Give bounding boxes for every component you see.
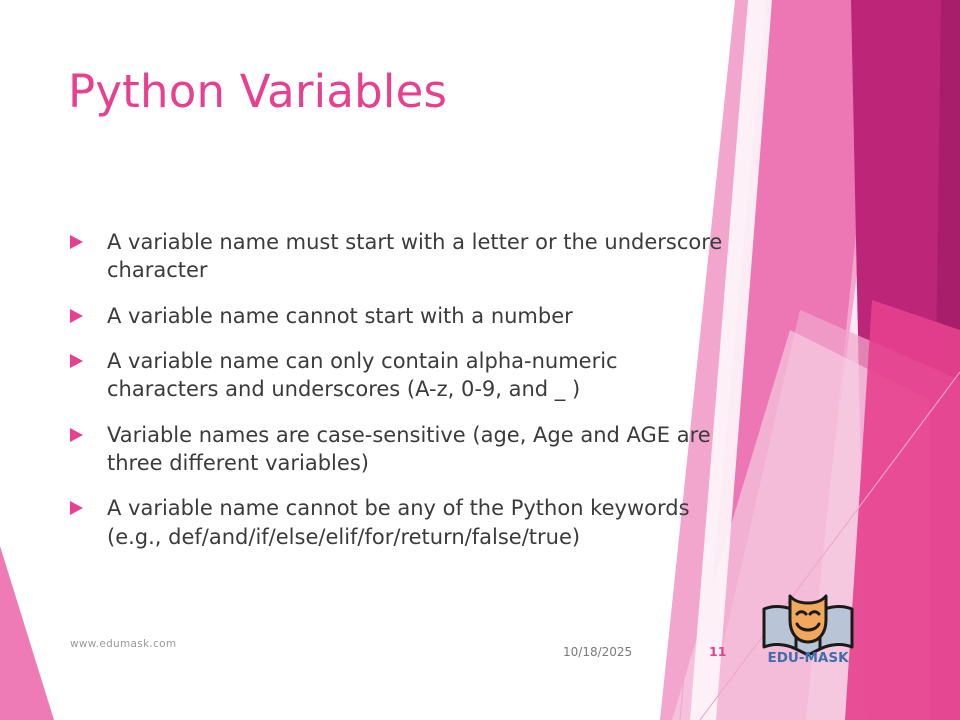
list-item: A variable name cannot start with a numb…: [70, 302, 735, 330]
triangle-right-icon: [70, 501, 83, 515]
footer-date: 10/18/2025: [563, 645, 632, 659]
list-item: Variable names are case-sensitive (age, …: [70, 421, 735, 478]
logo-wordmark: EDU-MASK: [767, 650, 849, 666]
footer-website-url[interactable]: www.edumask.com: [70, 638, 176, 650]
triangle-right-icon: [70, 428, 83, 442]
list-item-text: A variable name can only contain alpha-n…: [107, 347, 735, 404]
triangle-right-icon: [70, 309, 83, 323]
edu-mask-logo: EDU-MASK: [756, 586, 860, 666]
bullet-list: A variable name must start with a letter…: [70, 228, 735, 568]
decor-bright-pink-wedge: [845, 300, 960, 720]
page-title: Python Variables: [68, 66, 447, 118]
decor-deep-magenta-sliver: [931, 0, 960, 720]
smiling-mask-icon: [790, 596, 826, 642]
list-item-text: A variable name cannot start with a numb…: [107, 302, 735, 330]
triangle-right-icon: [70, 354, 83, 368]
slide-number: 11: [709, 644, 726, 659]
triangle-right-icon: [70, 235, 83, 249]
list-item: A variable name cannot be any of the Pyt…: [70, 494, 735, 551]
presentation-slide: Python Variables A variable name must st…: [0, 0, 960, 720]
decor-bottom-left-triangle: [0, 546, 54, 720]
list-item: A variable name must start with a letter…: [70, 228, 735, 285]
decor-dark-magenta-band: [851, 0, 960, 720]
decor-hairline-2: [700, 372, 960, 720]
list-item-text: A variable name cannot be any of the Pyt…: [107, 494, 735, 551]
list-item: A variable name can only contain alpha-n…: [70, 347, 735, 404]
list-item-text: A variable name must start with a letter…: [107, 228, 735, 285]
list-item-text: Variable names are case-sensitive (age, …: [107, 421, 735, 478]
